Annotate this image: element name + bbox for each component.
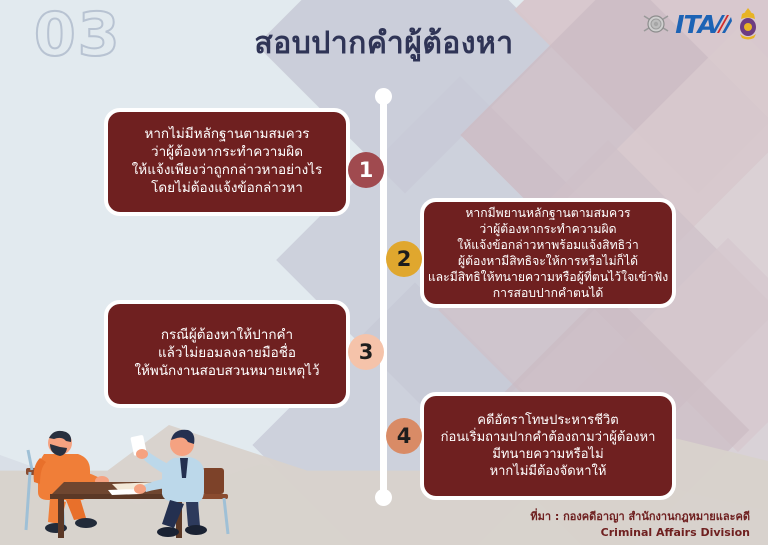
step-3-line-2: แล้วไม่ยอมลงลายมือชื่อ [158,345,296,363]
step-3-box: กรณีผู้ต้องหาให้ปากคำ แล้วไม่ยอมลงลายมือ… [104,300,350,408]
step-1-line-2: ว่าผู้ต้องหากระทำความผิด [151,144,303,162]
step-3-line-3: ให้พนักงานสอบสวนหมายเหตุไว้ [134,363,319,381]
step-2-line-3: ให้แจ้งข้อกล่าวหาพร้อมแจ้งสิทธิว่า [457,237,638,253]
step-3-line-1: กรณีผู้ต้องหาให้ปากคำ [161,327,293,345]
ita-silver-seal-icon [641,9,671,39]
ita-logo: ITA [675,12,732,37]
footer-source: ที่มา : กองคดีอาญา สำนักงานกฎหมายและคดี … [530,509,750,541]
step-2-line-6: การสอบปากคำตนได้ [493,285,604,301]
timeline-start-dot [375,88,392,105]
timeline-end-dot [375,489,392,506]
step-4-line-1: คดีอัตราโทษประหารชีวิต [477,412,618,429]
suspect-in-orange-jumpsuit [34,431,109,533]
step-4-line-3: มีทนายความหรือไม่ [492,446,603,463]
step-2-number-circle: 2 [386,241,422,277]
step-4-line-2: ก่อนเริ่มถามปากคำต้องถามว่าผู้ต้องหา [441,429,656,446]
step-1-line-1: หากไม่มีหลักฐานตามสมควร [144,126,309,144]
step-2-line-2: ว่าผู้ต้องหากระทำความผิด [479,221,616,237]
ita-stripes-icon [710,13,732,35]
footer-source-thai: ที่มา : กองคดีอาญา สำนักงานกฎหมายและคดี [530,509,750,525]
step-3-number-circle: 3 [348,334,384,370]
step-4-box: คดีอัตราโทษประหารชีวิต ก่อนเริ่มถามปากคำ… [420,392,676,500]
step-1-number-circle: 1 [348,152,384,188]
step-1-box: หากไม่มีหลักฐานตามสมควร ว่าผู้ต้องหากระท… [104,108,350,216]
step-2-box: หากมีพยานหลักฐานตามสมควร ว่าผู้ต้องหากระ… [420,198,676,308]
step-1-line-3: ให้แจ้งเพียงว่าถูกกล่าวหาอย่างไร [132,162,323,180]
logo-group: ITA [641,4,760,44]
royal-thai-police-emblem-icon [736,7,760,41]
step-4-number-circle: 4 [386,418,422,454]
step-1-line-4: โดยไม่ต้องแจ้งข้อกล่าวหา [151,180,303,198]
step-2-line-5: และมีสิทธิให้ทนายความหรือผู้ที่ตนไว้ใจเข… [428,269,668,285]
step-4-line-4: หากไม่มีต้องจัดหาให้ [490,463,607,480]
infographic-poster: 03 สอบปากคำผู้ต้องหา ITA [0,0,768,545]
interrogation-scene-illustration [4,410,254,545]
footer-source-english: Criminal Affairs Division [530,525,750,541]
step-2-line-4: ผู้ต้องหามีสิทธิจะให้การหรือไม่ก็ได้ [458,253,638,269]
step-2-line-1: หากมีพยานหลักฐานตามสมควร [465,205,630,221]
